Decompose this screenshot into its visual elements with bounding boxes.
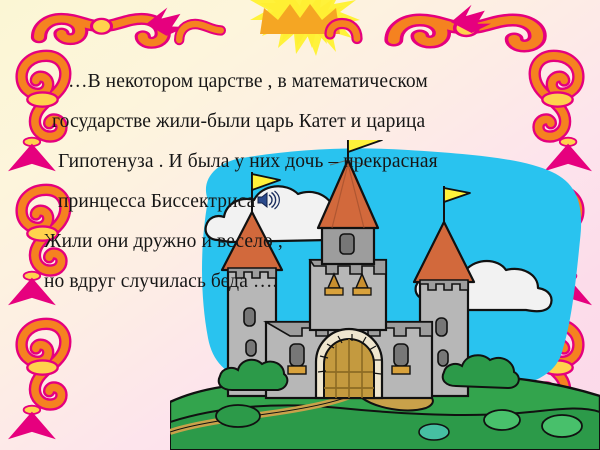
ornament-top-right — [394, 20, 538, 46]
slide-canvas: …В некотором царстве , в математическом … — [0, 0, 600, 450]
story-line-1: …В некотором царстве , в математическом — [44, 62, 544, 102]
story-line-2: государстве жили-были царь Катет и цариц… — [44, 102, 544, 142]
bush-small-4 — [419, 424, 449, 440]
ornament-top-left-tail — [179, 24, 221, 40]
bush-small-3 — [542, 415, 582, 437]
ornament-banner-right — [450, 2, 494, 35]
ornament-banner-left — [145, 4, 189, 39]
bush-small-2 — [484, 410, 520, 430]
ornament-top-right-head — [330, 24, 357, 39]
story-line-4: принцесса Биссектриса — [58, 191, 255, 212]
bush-small-1 — [216, 405, 260, 427]
story-line-4-row: принцесса Биссектриса — [44, 182, 544, 222]
story-line-5: Жили они дружно и весело , — [44, 222, 544, 262]
speaker-icon[interactable] — [256, 185, 280, 205]
ornament-top-left — [39, 19, 163, 43]
story-text-block: …В некотором царстве , в математическом … — [44, 62, 544, 302]
crown-icon — [260, 4, 340, 34]
story-line-3: Гипотенуза . И была у них дочь – прекрас… — [44, 142, 544, 182]
castle-gate — [316, 329, 382, 398]
sunburst-icon — [250, 0, 360, 56]
story-line-6: но вдруг случилась беда …. — [44, 262, 544, 302]
ornament-diamond-left-3 — [8, 406, 56, 440]
ornament-left-3 — [22, 324, 66, 405]
